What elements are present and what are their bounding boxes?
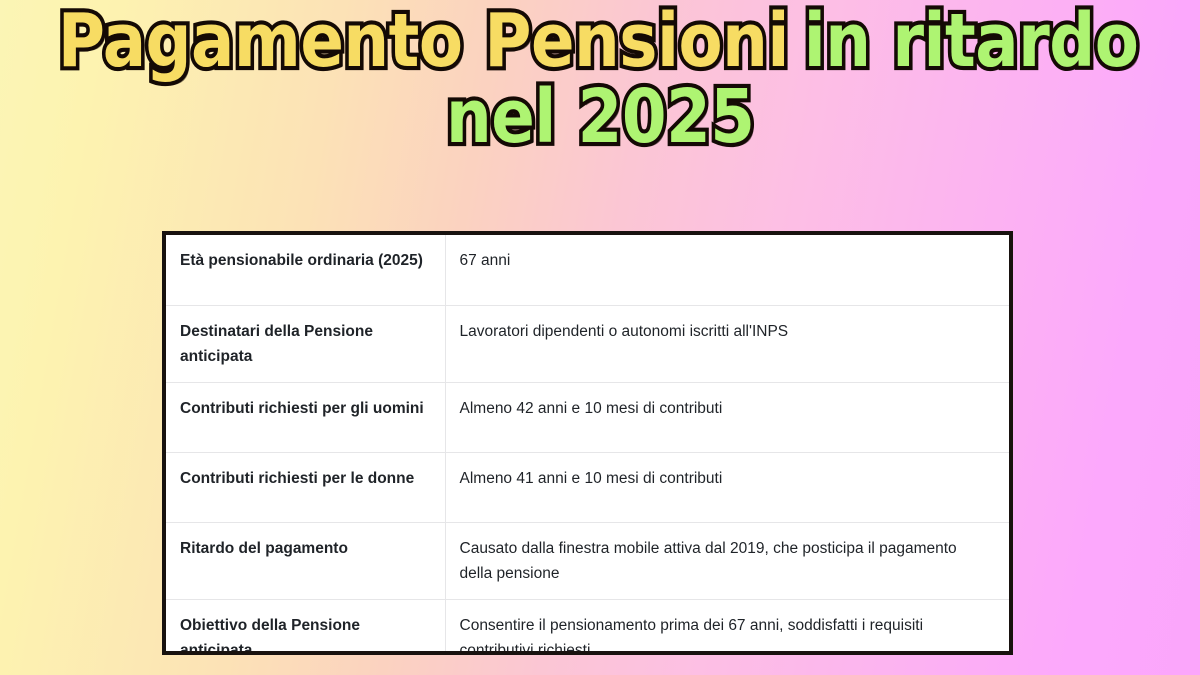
title-text-green-line2: nel 2025 (444, 78, 757, 156)
pension-info-table-card: Età pensionabile ordinaria (2025) 67 ann… (162, 231, 1013, 655)
table-row: Ritardo del pagamento Causato dalla fine… (166, 522, 1009, 599)
table-row: Destinatari della Pensione anticipata La… (166, 305, 1009, 382)
page-title: Pagamento Pensioni in ritardo nel 2025 (0, 8, 1200, 150)
row-label: Contributi richiesti per gli uomini (166, 382, 445, 452)
row-value: Almeno 41 anni e 10 mesi di contributi (445, 452, 1009, 522)
row-value: 67 anni (445, 235, 1009, 305)
row-label: Obiettivo della Pensione anticipata (166, 599, 445, 655)
infographic-canvas: Pagamento Pensioni in ritardo nel 2025 E… (0, 0, 1200, 675)
row-value: Lavoratori dipendenti o autonomi iscritt… (445, 305, 1009, 382)
row-value: Almeno 42 anni e 10 mesi di contributi (445, 382, 1009, 452)
title-text-green-line1: in ritardo (802, 2, 1141, 80)
table-row: Età pensionabile ordinaria (2025) 67 ann… (166, 235, 1009, 305)
table-row: Contributi richiesti per gli uomini Alme… (166, 382, 1009, 452)
row-label: Contributi richiesti per le donne (166, 452, 445, 522)
row-label: Età pensionabile ordinaria (2025) (166, 235, 445, 305)
title-line-2: nel 2025 (0, 84, 1200, 150)
table-row: Contributi richiesti per le donne Almeno… (166, 452, 1009, 522)
pension-info-table: Età pensionabile ordinaria (2025) 67 ann… (166, 235, 1009, 655)
title-text-yellow: Pagamento Pensioni (56, 2, 791, 80)
row-label: Destinatari della Pensione anticipata (166, 305, 445, 382)
row-value: Consentire il pensionamento prima dei 67… (445, 599, 1009, 655)
title-line-1: Pagamento Pensioni in ritardo (0, 8, 1200, 74)
row-label: Ritardo del pagamento (166, 522, 445, 599)
row-value: Causato dalla finestra mobile attiva dal… (445, 522, 1009, 599)
table-body: Età pensionabile ordinaria (2025) 67 ann… (166, 235, 1009, 655)
table-row: Obiettivo della Pensione anticipata Cons… (166, 599, 1009, 655)
